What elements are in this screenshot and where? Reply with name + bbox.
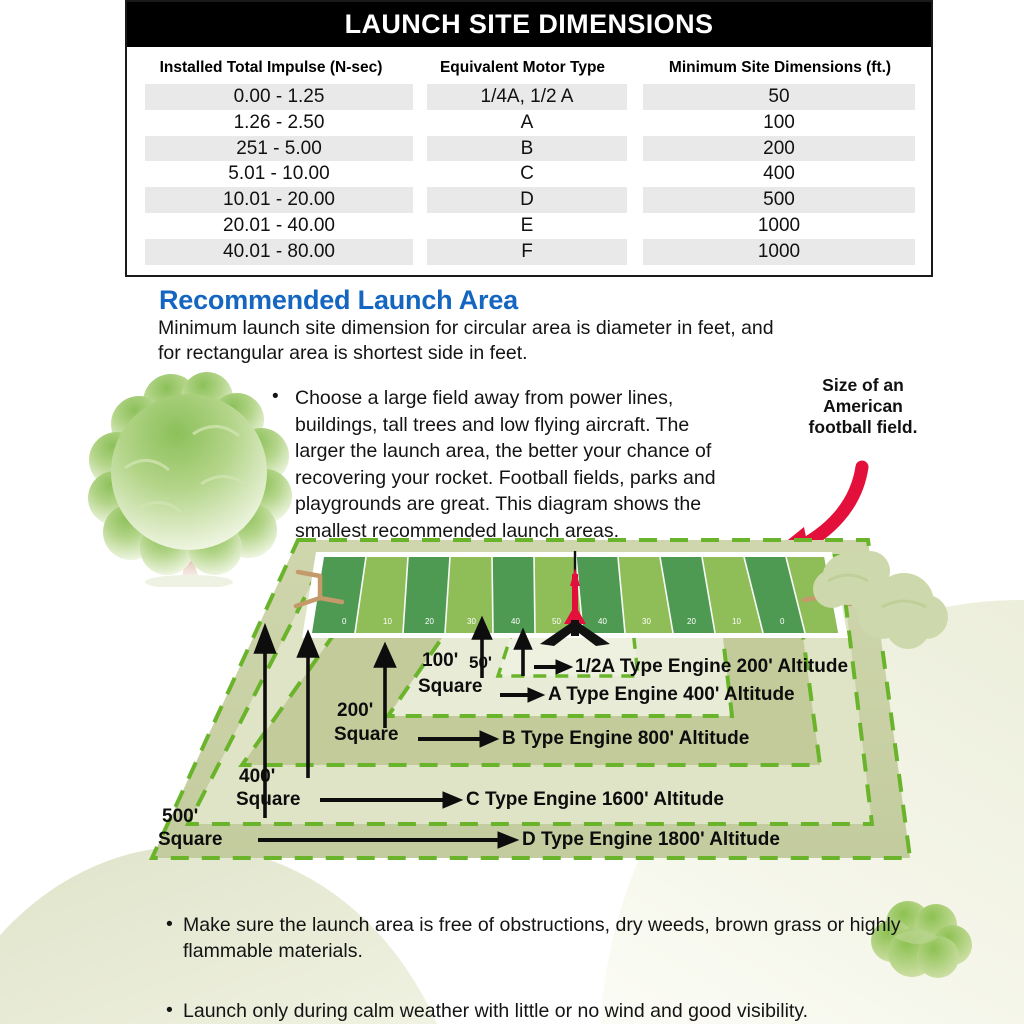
svg-text:30: 30	[467, 617, 476, 626]
cell-dimension: 50	[643, 84, 915, 110]
label-200-square: Square	[334, 724, 398, 746]
table-header-row: Installed Total Impulse (N-sec) Equivale…	[127, 47, 931, 84]
cell-motor: 1/4A, 1/2 A	[427, 84, 627, 110]
footer-bullet-item: • Launch only during calm weather with l…	[166, 998, 926, 1024]
label-100-square: Square	[418, 676, 482, 698]
table-title: LAUNCH SITE DIMENSIONS	[127, 2, 931, 47]
cell-motor: E	[427, 213, 627, 239]
intro-paragraph: Minimum launch site dimension for circul…	[158, 316, 798, 366]
cell-impulse: 20.01 - 40.00	[145, 213, 413, 239]
label-200-size: 200'	[337, 700, 373, 722]
launch-area-diagram: 01020 304050 403020 100 50' 100' Square …	[120, 528, 920, 873]
engine-label-b: B Type Engine 800' Altitude	[502, 728, 749, 750]
cell-motor: B	[427, 136, 627, 162]
cell-impulse: 10.01 - 20.00	[145, 187, 413, 213]
bullet-dot-icon: •	[166, 911, 173, 937]
table-row: 5.01 - 10.00 C 400	[127, 161, 931, 187]
svg-text:20: 20	[425, 617, 434, 626]
label-500-size: 500'	[162, 806, 198, 828]
table-row: 10.01 - 20.00 D 500	[127, 187, 931, 213]
football-field-callout: Size of an American football field.	[807, 375, 919, 438]
engine-label-half-a: 1/2A Type Engine 200' Altitude	[575, 656, 848, 678]
cell-dimension: 500	[643, 187, 915, 213]
svg-text:40: 40	[598, 617, 607, 626]
svg-text:30: 30	[642, 617, 651, 626]
engine-label-c: C Type Engine 1600' Altitude	[466, 789, 724, 811]
cell-dimension: 400	[643, 161, 915, 187]
table-row: 40.01 - 80.00 F 1000	[127, 239, 931, 265]
engine-label-d: D Type Engine 1800' Altitude	[522, 829, 780, 851]
footer-bullet-list: • Make sure the launch area is free of o…	[166, 912, 926, 1024]
cell-impulse: 5.01 - 10.00	[145, 161, 413, 187]
bullet-dot-icon: •	[272, 384, 279, 411]
footer-bullet-item: • Make sure the launch area is free of o…	[166, 912, 926, 964]
label-50-square: 50'	[469, 653, 492, 673]
cell-motor: A	[427, 110, 627, 136]
cell-dimension: 1000	[643, 239, 915, 265]
cell-motor: D	[427, 187, 627, 213]
bush-cluster-right-icon	[812, 545, 957, 655]
column-header-motor-type: Equivalent Motor Type	[415, 59, 630, 77]
table-row: 0.00 - 1.25 1/4A, 1/2 A 50	[127, 84, 931, 110]
table-row: 1.26 - 2.50 A 100	[127, 110, 931, 136]
footer-bullet-text: Make sure the launch area is free of obs…	[183, 912, 926, 964]
column-header-impulse: Installed Total Impulse (N-sec)	[127, 59, 415, 77]
cell-motor: F	[427, 239, 627, 265]
main-bullet-text: Choose a large field away from power lin…	[295, 385, 742, 544]
svg-text:20: 20	[687, 617, 696, 626]
table-row: 20.01 - 40.00 E 1000	[127, 213, 931, 239]
cell-impulse: 251 - 5.00	[145, 136, 413, 162]
label-100-size: 100'	[422, 650, 458, 672]
launch-site-dimensions-table: LAUNCH SITE DIMENSIONS Installed Total I…	[125, 0, 933, 277]
bullet-dot-icon: •	[166, 997, 173, 1023]
label-400-size: 400'	[239, 766, 275, 788]
cell-impulse: 1.26 - 2.50	[145, 110, 413, 136]
cell-impulse: 40.01 - 80.00	[145, 239, 413, 265]
cell-dimension: 200	[643, 136, 915, 162]
page-title: Recommended Launch Area	[159, 285, 518, 316]
svg-text:0: 0	[780, 617, 785, 626]
table-row: 251 - 5.00 B 200	[127, 136, 931, 162]
svg-text:0: 0	[342, 617, 347, 626]
svg-text:50: 50	[552, 617, 561, 626]
column-header-site-dimensions: Minimum Site Dimensions (ft.)	[630, 59, 930, 77]
svg-text:10: 10	[732, 617, 741, 626]
svg-text:10: 10	[383, 617, 392, 626]
cell-impulse: 0.00 - 1.25	[145, 84, 413, 110]
main-bullet-item: • Choose a large field away from power l…	[272, 385, 742, 544]
cell-dimension: 1000	[643, 213, 915, 239]
engine-label-a: A Type Engine 400' Altitude	[548, 684, 795, 706]
label-400-square: Square	[236, 789, 300, 811]
svg-text:40: 40	[511, 617, 520, 626]
footer-bullet-text: Launch only during calm weather with lit…	[183, 998, 926, 1024]
label-500-square: Square	[158, 829, 222, 851]
cell-dimension: 100	[643, 110, 915, 136]
page-root: LAUNCH SITE DIMENSIONS Installed Total I…	[0, 0, 1024, 1024]
cell-motor: C	[427, 161, 627, 187]
